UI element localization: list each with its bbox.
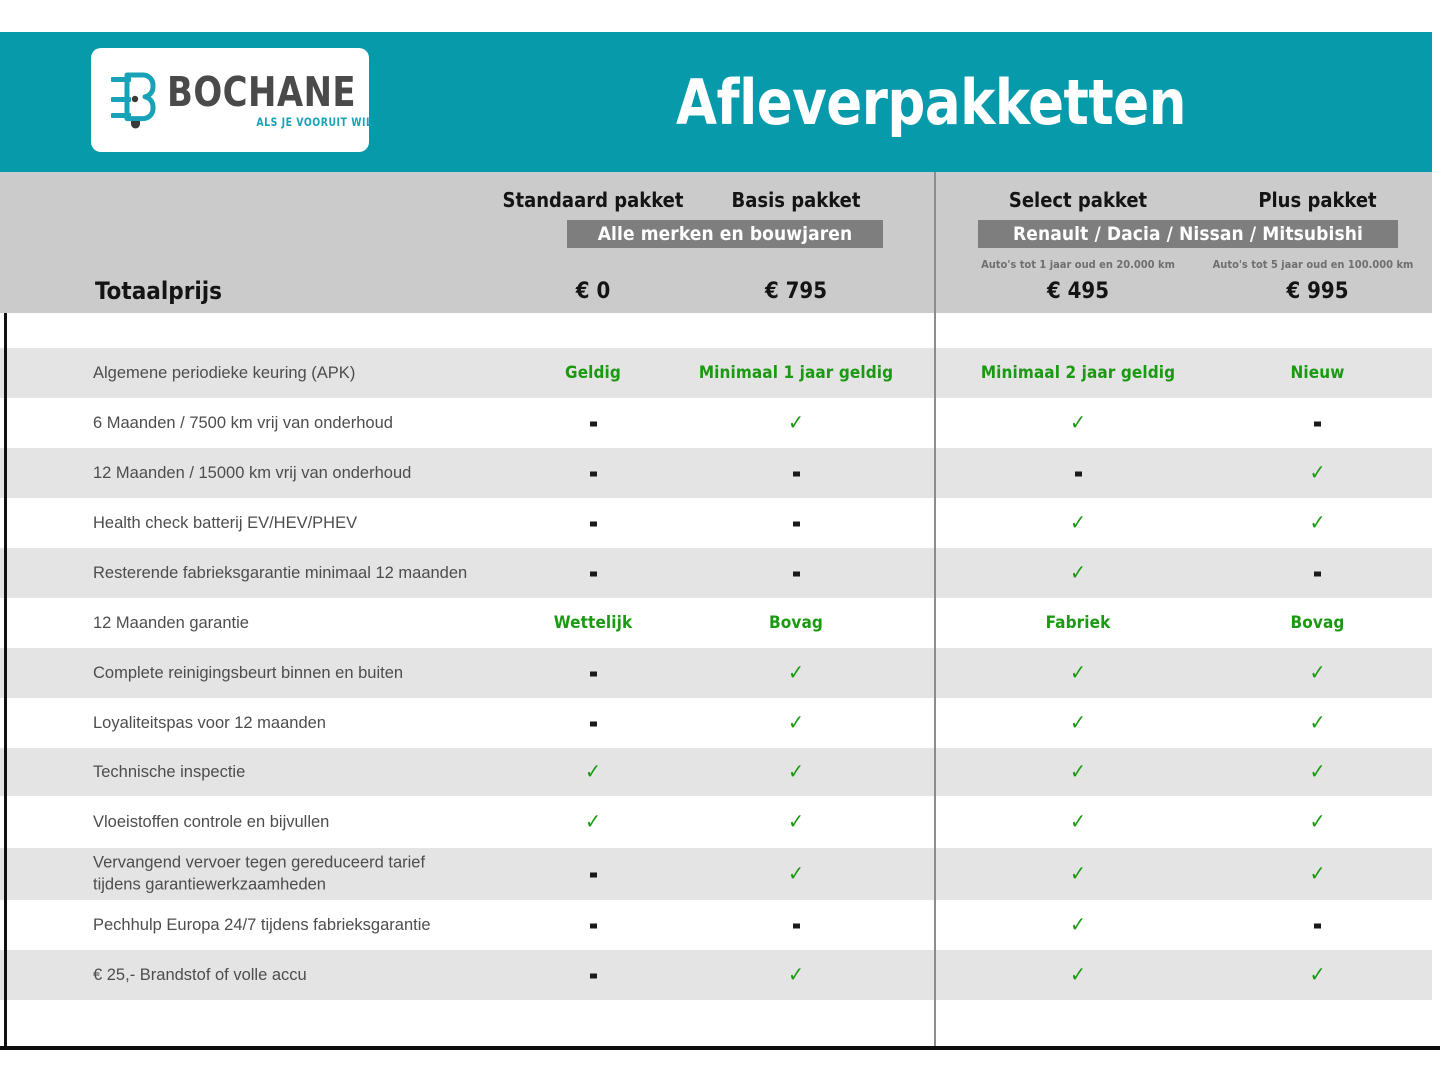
check-icon: ✓ xyxy=(1070,661,1086,685)
spacer-row xyxy=(0,313,1432,348)
cell-value xyxy=(500,464,686,483)
check-icon: ✓ xyxy=(1070,711,1086,735)
cell-value: Nieuw xyxy=(1210,363,1425,383)
cell-value xyxy=(500,916,686,935)
group-chip-alle-merken: Alle merken en bouwjaren xyxy=(567,220,883,248)
cell-value: Fabriek xyxy=(960,613,1196,633)
row-label: Loyaliteitspas voor 12 maanden xyxy=(93,712,326,734)
dash-icon xyxy=(1314,572,1321,577)
check-icon: ✓ xyxy=(1070,511,1086,535)
price-select: € 495 xyxy=(960,279,1196,304)
page-title: Afleverpakketten xyxy=(455,32,1407,172)
table-row: Vloeistoffen controle en bijvullen✓✓✓✓ xyxy=(0,796,1432,848)
table-row: Resterende fabrieksgarantie minimaal 12 … xyxy=(0,548,1432,598)
dash-icon xyxy=(793,572,800,577)
dash-icon xyxy=(590,873,597,878)
dash-icon xyxy=(793,522,800,527)
group-chip-merken-renault: Renault / Dacia / Nissan / Mitsubishi xyxy=(978,220,1398,248)
check-icon: ✓ xyxy=(1070,913,1086,937)
dash-icon xyxy=(590,924,597,929)
cell-value xyxy=(1210,564,1425,583)
price-basis: € 795 xyxy=(690,279,902,304)
row-label: Complete reinigingsbeurt binnen en buite… xyxy=(93,662,403,684)
dash-icon xyxy=(1314,924,1321,929)
table-row: Algemene periodieke keuring (APK)GeldigM… xyxy=(0,348,1432,398)
cell-value xyxy=(1210,916,1425,935)
row-label: Health check batterij EV/HEV/PHEV xyxy=(93,512,357,534)
check-icon: ✓ xyxy=(1070,963,1086,987)
cell-value xyxy=(500,514,686,533)
price-plus: € 995 xyxy=(1210,279,1425,304)
logo-tagline: ALS JE VOORUIT WIL xyxy=(188,117,373,129)
feature-rows: Algemene periodieke keuring (APK)GeldigM… xyxy=(0,313,1432,1048)
cell-value xyxy=(500,714,686,733)
cell-value: ✓ xyxy=(1210,812,1425,833)
check-icon: ✓ xyxy=(1070,810,1086,834)
check-icon: ✓ xyxy=(1070,862,1086,886)
row-label: Algemene periodieke keuring (APK) xyxy=(93,362,355,384)
check-icon: ✓ xyxy=(1070,760,1086,784)
check-icon: ✓ xyxy=(585,810,601,834)
row-label: Vervangend vervoer tegen gereduceerd tar… xyxy=(93,852,425,897)
table-row: Vervangend vervoer tegen gereduceerd tar… xyxy=(0,848,1432,900)
column-title-select: Select pakket xyxy=(960,188,1196,212)
left-edge-rule xyxy=(4,313,7,1048)
cell-value xyxy=(690,464,902,483)
cell-value: ✓ xyxy=(1210,713,1425,734)
dash-icon xyxy=(793,472,800,477)
dash-icon xyxy=(590,422,597,427)
cell-value xyxy=(690,564,902,583)
logo-name: BOCHANE xyxy=(167,72,356,113)
cell-value xyxy=(690,514,902,533)
cell-value: ✓ xyxy=(1210,513,1425,534)
value-text: Minimaal 2 jaar geldig xyxy=(981,363,1175,383)
check-icon: ✓ xyxy=(1310,711,1326,735)
table-row: Health check batterij EV/HEV/PHEV✓✓ xyxy=(0,498,1432,548)
row-label: 12 Maanden / 15000 km vrij van onderhoud xyxy=(93,462,411,484)
check-icon: ✓ xyxy=(1070,561,1086,585)
dash-icon xyxy=(1075,472,1082,477)
row-label: 6 Maanden / 7500 km vrij van onderhoud xyxy=(93,412,393,434)
cell-value: ✓ xyxy=(1210,965,1425,986)
row-label: Resterende fabrieksgarantie minimaal 12 … xyxy=(93,562,467,584)
cell-value: ✓ xyxy=(690,713,902,734)
bochane-b-mark-icon xyxy=(109,71,161,129)
check-icon: ✓ xyxy=(788,862,804,886)
check-icon: ✓ xyxy=(788,411,804,435)
cell-value: Bovag xyxy=(1210,613,1425,633)
cell-value: ✓ xyxy=(1210,762,1425,783)
cell-value: ✓ xyxy=(960,965,1196,986)
column-title-standaard: Standaard pakket xyxy=(500,188,686,212)
packages-header: Totaalprijs Standaard pakket Basis pakke… xyxy=(0,172,1432,313)
cell-value xyxy=(960,464,1196,483)
check-icon: ✓ xyxy=(1310,511,1326,535)
column-title-basis: Basis pakket xyxy=(690,188,902,212)
value-text: Geldig xyxy=(565,363,621,383)
cell-value: ✓ xyxy=(1210,463,1425,484)
cell-value: ✓ xyxy=(690,762,902,783)
value-text: Wettelijk xyxy=(554,613,632,633)
dash-icon xyxy=(1314,422,1321,427)
cell-value xyxy=(500,865,686,884)
delivery-packages-comparison-page: BOCHANE ALS JE VOORUIT WIL Afleverpakket… xyxy=(0,0,1440,1080)
cell-value: ✓ xyxy=(960,762,1196,783)
cell-value xyxy=(500,966,686,985)
cell-value: ✓ xyxy=(690,864,902,885)
table-row: Technische inspectie✓✓✓✓ xyxy=(0,748,1432,796)
check-icon: ✓ xyxy=(1070,411,1086,435)
cell-value: Geldig xyxy=(500,363,686,383)
price-standaard: € 0 xyxy=(500,279,686,304)
brand-logo: BOCHANE ALS JE VOORUIT WIL xyxy=(91,48,369,152)
row-label: Technische inspectie xyxy=(93,761,245,783)
table-row: Pechhulp Europa 24/7 tijdens fabrieksgar… xyxy=(0,900,1432,950)
table-row: 12 Maanden / 15000 km vrij van onderhoud… xyxy=(0,448,1432,498)
column-note-select: Auto's tot 1 jaar oud en 20.000 km xyxy=(960,258,1196,271)
table-row: 12 Maanden garantieWettelijkBovagFabriek… xyxy=(0,598,1432,648)
value-text: Fabriek xyxy=(1046,613,1111,633)
cell-value xyxy=(690,916,902,935)
check-icon: ✓ xyxy=(1310,862,1326,886)
cell-value: ✓ xyxy=(960,563,1196,584)
cell-value: ✓ xyxy=(690,663,902,684)
check-icon: ✓ xyxy=(788,810,804,834)
row-label: € 25,- Brandstof of volle accu xyxy=(93,964,307,986)
check-icon: ✓ xyxy=(788,661,804,685)
row-label: Pechhulp Europa 24/7 tijdens fabrieksgar… xyxy=(93,914,431,936)
table-row: Loyaliteitspas voor 12 maanden✓✓✓ xyxy=(0,698,1432,748)
cell-value: Minimaal 2 jaar geldig xyxy=(960,363,1196,383)
check-icon: ✓ xyxy=(1310,461,1326,485)
column-note-plus: Auto's tot 5 jaar oud en 100.000 km xyxy=(1200,258,1426,271)
value-text: Bovag xyxy=(1291,613,1345,633)
check-icon: ✓ xyxy=(1310,810,1326,834)
check-icon: ✓ xyxy=(788,963,804,987)
cell-value: ✓ xyxy=(960,812,1196,833)
check-icon: ✓ xyxy=(788,711,804,735)
cell-value: Bovag xyxy=(690,613,902,633)
check-icon: ✓ xyxy=(1310,661,1326,685)
cell-value: ✓ xyxy=(960,713,1196,734)
row-label: Vloeistoffen controle en bijvullen xyxy=(93,811,329,833)
cell-value: Wettelijk xyxy=(500,613,686,633)
row-label: 12 Maanden garantie xyxy=(93,612,249,634)
cell-value: ✓ xyxy=(960,513,1196,534)
dash-icon xyxy=(590,672,597,677)
cell-value: ✓ xyxy=(690,812,902,833)
cell-value xyxy=(500,414,686,433)
cell-value: ✓ xyxy=(960,413,1196,434)
cell-value: ✓ xyxy=(500,762,686,783)
value-text: Bovag xyxy=(769,613,823,633)
cell-value: ✓ xyxy=(960,915,1196,936)
value-text: Minimaal 1 jaar geldig xyxy=(699,363,893,383)
cell-value: ✓ xyxy=(1210,663,1425,684)
check-icon: ✓ xyxy=(1310,963,1326,987)
check-icon: ✓ xyxy=(788,760,804,784)
total-price-label: Totaalprijs xyxy=(95,277,222,305)
header-banner: BOCHANE ALS JE VOORUIT WIL Afleverpakket… xyxy=(0,32,1432,172)
dash-icon xyxy=(590,974,597,979)
cell-value: ✓ xyxy=(960,864,1196,885)
table-row: Complete reinigingsbeurt binnen en buite… xyxy=(0,648,1432,698)
spacer-row xyxy=(0,1000,1432,1048)
group-divider xyxy=(934,172,936,1048)
cell-value: ✓ xyxy=(1210,864,1425,885)
dash-icon xyxy=(590,722,597,727)
cell-value: ✓ xyxy=(690,965,902,986)
bottom-rule xyxy=(0,1046,1440,1050)
dash-icon xyxy=(590,472,597,477)
cell-value: Minimaal 1 jaar geldig xyxy=(690,363,902,383)
cell-value xyxy=(500,564,686,583)
table-row: 6 Maanden / 7500 km vrij van onderhoud✓✓ xyxy=(0,398,1432,448)
cell-value: ✓ xyxy=(500,812,686,833)
cell-value xyxy=(1210,414,1425,433)
dash-icon xyxy=(590,572,597,577)
cell-value: ✓ xyxy=(690,413,902,434)
column-title-plus: Plus pakket xyxy=(1210,188,1425,212)
check-icon: ✓ xyxy=(1310,760,1326,784)
cell-value xyxy=(500,664,686,683)
dash-icon xyxy=(590,522,597,527)
table-row: € 25,- Brandstof of volle accu✓✓✓ xyxy=(0,950,1432,1000)
dash-icon xyxy=(793,924,800,929)
cell-value: ✓ xyxy=(960,663,1196,684)
value-text: Nieuw xyxy=(1291,363,1345,383)
check-icon: ✓ xyxy=(585,760,601,784)
